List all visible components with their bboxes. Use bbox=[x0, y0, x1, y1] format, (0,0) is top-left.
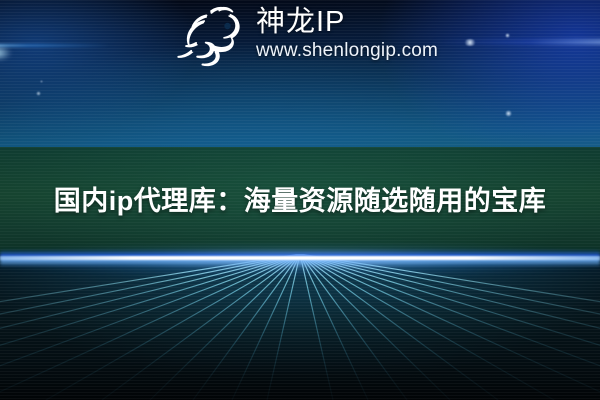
brand-text-block: 神龙IP www.shenlongip.com bbox=[256, 4, 438, 62]
light-speck-icon bbox=[463, 39, 477, 46]
lens-flare-streak-right-icon bbox=[430, 40, 600, 44]
light-speck-icon bbox=[505, 33, 510, 38]
brand-website: www.shenlongip.com bbox=[256, 40, 438, 62]
light-speck-icon bbox=[40, 80, 43, 83]
brand-logo: 神龙IP www.shenlongip.com bbox=[176, 4, 436, 72]
light-speck-icon bbox=[505, 110, 512, 117]
headline-text: 国内ip代理库：海量资源随选随用的宝库 bbox=[26, 179, 574, 223]
light-speck-icon bbox=[36, 91, 41, 96]
headline-band: 国内ip代理库：海量资源随选随用的宝库 bbox=[0, 147, 600, 254]
banner-image: 神龙IP www.shenlongip.com 国内ip代理库：海量资源随选随用… bbox=[0, 0, 600, 400]
lens-flare-core-left-icon bbox=[0, 45, 12, 61]
brand-name-cn: 神龙IP bbox=[256, 6, 438, 39]
perspective-grid-floor bbox=[0, 254, 600, 400]
lens-flare-streak-left-icon bbox=[0, 44, 110, 47]
grid-lines-icon bbox=[0, 254, 600, 400]
dragon-head-icon bbox=[176, 5, 250, 71]
